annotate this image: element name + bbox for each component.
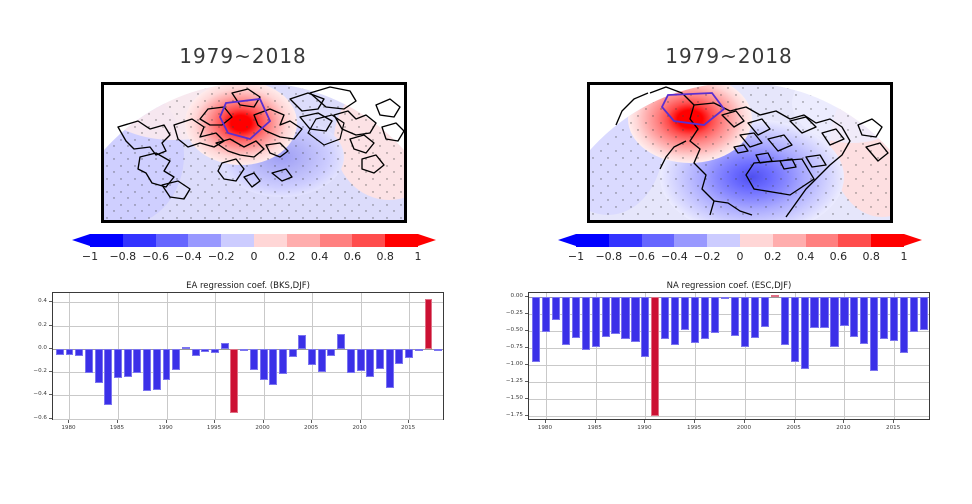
colorbar-segment-5 — [254, 234, 287, 247]
colorbar-tick-label: 1 — [901, 250, 908, 263]
y-tick-mark — [49, 418, 52, 419]
x-axis-tick-label: 1990 — [158, 425, 172, 431]
colorbar-tick-label: 1 — [415, 250, 422, 263]
colorbar-tick-label: 0.2 — [278, 250, 296, 263]
bar — [434, 349, 442, 351]
y-axis-tick-label: −0.25 — [506, 310, 523, 316]
bar — [791, 297, 799, 362]
x-axis-tick-label: 1995 — [687, 425, 701, 431]
x-axis-tick-label: 2010 — [352, 425, 366, 431]
bar — [532, 297, 540, 362]
x-tick-mark — [595, 420, 596, 423]
bar — [415, 349, 423, 351]
bar — [366, 349, 374, 377]
colorbar-segment-5 — [740, 234, 773, 247]
bar — [279, 349, 287, 375]
colorbar-tick-label: −0.8 — [595, 250, 622, 263]
colorbar-extend-min-right — [558, 234, 576, 247]
x-tick-mark — [644, 420, 645, 423]
x-tick-mark — [744, 420, 745, 423]
y-axis-tick-label: −1.75 — [506, 412, 523, 418]
bar — [201, 349, 209, 352]
colorbar-segment-0 — [90, 234, 123, 247]
bar — [124, 349, 132, 377]
colorbar-segment-2 — [642, 234, 675, 247]
chart-title: EA regression coef. (BKS,DJF) — [52, 281, 444, 291]
y-tick-mark — [525, 347, 528, 348]
bar — [337, 334, 345, 349]
bar — [592, 297, 600, 347]
map-title-right: 1979~2018 — [486, 44, 972, 68]
map-svg-eurasia — [104, 85, 404, 220]
gridline-horizontal — [53, 326, 443, 327]
bar — [395, 349, 403, 364]
bar — [347, 349, 355, 373]
bar — [572, 297, 580, 338]
y-axis-tick-label: 0.0 — [38, 345, 47, 351]
bar — [542, 297, 550, 332]
colorbar-tick-label: 0.8 — [376, 250, 394, 263]
bar — [910, 297, 918, 332]
colorbar-tick-label: 0.4 — [797, 250, 815, 263]
bar — [298, 335, 306, 349]
panel-right: 1979~2018 — [486, 0, 972, 504]
bar — [95, 349, 103, 383]
colorbar-segment-3 — [188, 234, 221, 247]
bar — [661, 297, 669, 339]
bar — [621, 297, 629, 339]
y-axis-tick-label: −1.50 — [506, 395, 523, 401]
bar — [890, 297, 898, 341]
bar-chart-left: EA regression coef. (BKS,DJF)0.40.20.0−0… — [52, 292, 444, 420]
colorbar-tick-label: 0 — [737, 250, 744, 263]
bar — [721, 297, 729, 299]
x-axis-tick-label: 1995 — [207, 425, 221, 431]
bar — [771, 295, 779, 297]
colorbar-segments-right — [576, 234, 904, 247]
x-tick-mark — [68, 420, 69, 423]
bar — [269, 349, 277, 385]
figure-root: 1979~2018 — [0, 0, 972, 504]
bar — [250, 349, 258, 370]
x-tick-mark — [893, 420, 894, 423]
y-axis-tick-label: −1.00 — [506, 361, 523, 367]
colorbar-tick-label: −1 — [82, 250, 98, 263]
y-axis-tick-label: −0.2 — [33, 368, 47, 374]
x-axis-tick-label: 2015 — [886, 425, 900, 431]
map-svg-northamerica — [590, 85, 890, 220]
x-axis-tick-label: 1980 — [538, 425, 552, 431]
gridline-horizontal — [529, 399, 929, 400]
colorbar-strip-left — [72, 234, 436, 247]
colorbar-segment-0 — [576, 234, 609, 247]
colorbar-tick-label: 0.6 — [344, 250, 362, 263]
x-tick-mark — [843, 420, 844, 423]
bar — [260, 349, 268, 380]
y-tick-mark — [49, 371, 52, 372]
y-tick-mark — [49, 394, 52, 395]
bar — [671, 297, 679, 345]
colorbar-extend-max-left — [418, 234, 436, 247]
colorbar-segment-4 — [221, 234, 254, 247]
bar — [182, 347, 190, 349]
x-tick-mark — [694, 420, 695, 423]
bar — [582, 297, 590, 350]
colorbar-right: −1−0.8−0.6−0.4−0.200.20.40.60.81 — [558, 234, 922, 270]
y-axis-tick-label: −1.25 — [506, 378, 523, 384]
y-axis-tick-label: −0.50 — [506, 327, 523, 333]
bar — [104, 349, 112, 405]
bar — [75, 349, 83, 356]
bar — [631, 297, 639, 342]
bar — [761, 297, 769, 327]
x-tick-mark — [545, 420, 546, 423]
bar — [810, 297, 818, 328]
colorbar-segment-3 — [674, 234, 707, 247]
y-axis-tick-label: 0.00 — [511, 293, 523, 299]
colorbar-segment-7 — [320, 234, 353, 247]
y-axis-tick-label: 0.4 — [38, 298, 47, 304]
y-tick-mark — [525, 415, 528, 416]
colorbar-tick-label: −0.6 — [142, 250, 169, 263]
y-axis-tick-label: −0.4 — [33, 391, 47, 397]
colorbar-segment-1 — [123, 234, 156, 247]
bar — [681, 297, 689, 330]
bar — [900, 297, 908, 353]
y-tick-mark — [525, 364, 528, 365]
colorbar-segment-9 — [871, 234, 904, 247]
bar — [376, 349, 384, 369]
map-panel-right — [587, 82, 893, 223]
colorbar-segment-6 — [773, 234, 806, 247]
x-axis-tick-label: 1990 — [637, 425, 651, 431]
gridline-horizontal — [529, 416, 929, 417]
gridline-horizontal — [53, 302, 443, 303]
colorbar-segment-8 — [352, 234, 385, 247]
bar — [425, 299, 433, 349]
colorbar-tick-label: −0.8 — [109, 250, 136, 263]
bar — [308, 349, 316, 365]
x-axis-tick-label: 2005 — [787, 425, 801, 431]
bar — [318, 349, 326, 372]
y-tick-mark — [49, 301, 52, 302]
bar — [781, 297, 789, 345]
bar — [357, 349, 365, 371]
bar — [133, 349, 141, 373]
x-tick-mark — [311, 420, 312, 423]
bar — [211, 349, 219, 354]
bar — [840, 297, 848, 326]
bar — [880, 297, 888, 339]
bar — [602, 297, 610, 336]
bar — [405, 349, 413, 358]
colorbar-extend-min-left — [72, 234, 90, 247]
bar — [552, 297, 560, 320]
x-axis-tick-label: 1985 — [110, 425, 124, 431]
bar — [85, 349, 93, 373]
bar — [163, 349, 171, 380]
gridline-horizontal — [529, 365, 929, 366]
colorbar-tick-label: −1 — [568, 250, 584, 263]
y-tick-mark — [525, 381, 528, 382]
bar — [711, 297, 719, 333]
y-axis-tick-label: −0.6 — [33, 415, 47, 421]
colorbar-segment-1 — [609, 234, 642, 247]
plot-area — [528, 292, 930, 420]
bar-chart-right: NA regression coef. (ESC,DJF)0.00−0.25−0… — [528, 292, 930, 420]
colorbar-segment-6 — [287, 234, 320, 247]
bar — [240, 349, 248, 351]
bar — [327, 349, 335, 356]
y-tick-mark — [525, 313, 528, 314]
x-tick-mark — [166, 420, 167, 423]
x-axis-tick-label: 1985 — [588, 425, 602, 431]
bar — [562, 297, 570, 345]
colorbar-tick-label: −0.2 — [208, 250, 235, 263]
bar — [153, 349, 161, 390]
x-axis-tick-label: 2015 — [401, 425, 415, 431]
x-axis-tick-label: 1980 — [61, 425, 75, 431]
colorbar-tick-label: 0.2 — [764, 250, 782, 263]
colorbar-tick-label: 0 — [251, 250, 258, 263]
gridline-vertical — [215, 293, 216, 419]
colorbar-segment-4 — [707, 234, 740, 247]
colorbar-segment-8 — [838, 234, 871, 247]
bar — [56, 349, 64, 355]
colorbar-tick-label: −0.4 — [175, 250, 202, 263]
colorbar-ticks-left: −1−0.8−0.6−0.4−0.200.20.40.60.81 — [72, 250, 436, 268]
colorbar-segment-9 — [385, 234, 418, 247]
bar — [66, 349, 74, 355]
bar — [192, 349, 200, 356]
colorbar-tick-label: −0.6 — [628, 250, 655, 263]
map-title-left: 1979~2018 — [0, 44, 486, 68]
x-tick-mark — [263, 420, 264, 423]
x-axis-tick-label: 2010 — [836, 425, 850, 431]
chart-title: NA regression coef. (ESC,DJF) — [528, 281, 930, 291]
colorbar-segment-7 — [806, 234, 839, 247]
bar — [221, 343, 229, 349]
bar — [920, 297, 928, 330]
bar — [850, 297, 858, 336]
bar — [830, 297, 838, 347]
bar — [801, 297, 809, 368]
bar — [691, 297, 699, 343]
panel-left: 1979~2018 — [0, 0, 486, 504]
gridline-horizontal — [529, 382, 929, 383]
colorbar-strip-right — [558, 234, 922, 247]
colorbar-left: −1−0.8−0.6−0.4−0.200.20.40.60.81 — [72, 234, 436, 270]
bar — [143, 349, 151, 391]
x-tick-mark — [360, 420, 361, 423]
colorbar-segment-2 — [156, 234, 189, 247]
bar — [641, 297, 649, 357]
y-tick-mark — [49, 325, 52, 326]
y-tick-mark — [525, 398, 528, 399]
bar — [701, 297, 709, 339]
x-tick-mark — [794, 420, 795, 423]
bar — [870, 297, 878, 371]
bar — [230, 349, 238, 413]
bar — [386, 349, 394, 389]
map-panel-left — [101, 82, 407, 223]
bar — [611, 297, 619, 334]
gridline-vertical — [69, 293, 70, 419]
x-tick-mark — [214, 420, 215, 423]
x-axis-tick-label: 2000 — [737, 425, 751, 431]
colorbar-tick-label: 0.4 — [311, 250, 329, 263]
bar — [289, 349, 297, 357]
colorbar-extend-max-right — [904, 234, 922, 247]
bar — [172, 349, 180, 370]
colorbar-ticks-right: −1−0.8−0.6−0.4−0.200.20.40.60.81 — [558, 250, 922, 268]
x-tick-mark — [117, 420, 118, 423]
gridline-horizontal — [53, 419, 443, 420]
bar — [731, 297, 739, 336]
y-tick-mark — [525, 330, 528, 331]
y-tick-mark — [525, 296, 528, 297]
y-axis-tick-label: 0.2 — [38, 322, 47, 328]
x-tick-mark — [408, 420, 409, 423]
bar — [860, 297, 868, 344]
colorbar-tick-label: 0.8 — [862, 250, 880, 263]
bar — [751, 297, 759, 338]
bar — [114, 349, 122, 378]
y-tick-mark — [49, 348, 52, 349]
colorbar-tick-label: 0.6 — [830, 250, 848, 263]
x-axis-tick-label: 2000 — [255, 425, 269, 431]
bar — [741, 297, 749, 347]
plot-area — [52, 292, 444, 420]
colorbar-tick-label: −0.2 — [694, 250, 721, 263]
y-axis-tick-label: −0.75 — [506, 344, 523, 350]
colorbar-tick-label: −0.4 — [661, 250, 688, 263]
x-axis-tick-label: 2005 — [304, 425, 318, 431]
bar — [651, 297, 659, 415]
bar — [820, 297, 828, 328]
colorbar-segments-left — [90, 234, 418, 247]
